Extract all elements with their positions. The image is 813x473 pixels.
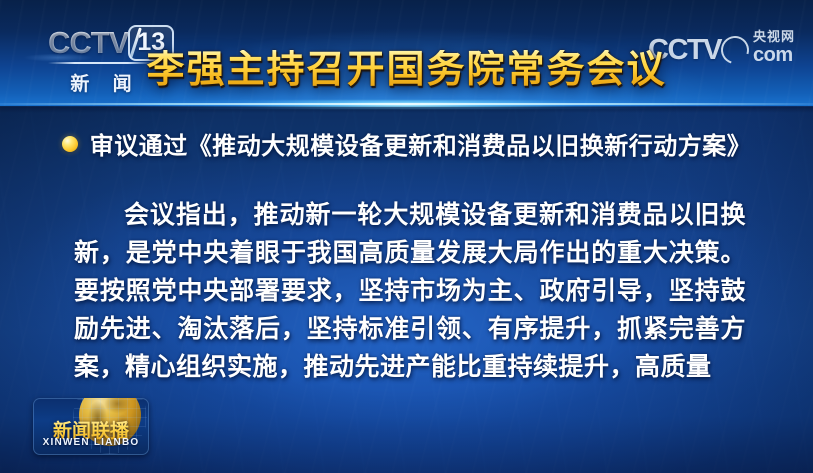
header-divider-shadow (0, 107, 813, 113)
body-paragraph: 会议指出，推动新一轮大规模设备更新和消费品以旧换新，是党中央着眼于我国高质量发展… (74, 196, 746, 386)
program-name-en: XINWEN LIANBO (33, 437, 149, 448)
header-divider-line (0, 103, 813, 105)
program-logo-reflection (10, 54, 106, 66)
xinwen-lianbo-logo: 新闻联播 XINWEN LIANBO (33, 398, 149, 455)
subtitle-text: 审议通过《推动大规模设备更新和消费品以旧换新行动方案》 (90, 126, 752, 161)
subtitle-row: 审议通过《推动大规模设备更新和消费品以旧换新行动方案》 (0, 126, 813, 161)
bullet-dot-icon (62, 136, 78, 152)
headline-title: 李强主持召开国务院常务会议 (0, 50, 813, 91)
watermark-cn-text: 央视网 (753, 30, 795, 43)
broadcast-screen: CCTV 13 新 闻 CCTV 央视网 com 李强主持召开国务院常务会议 审… (0, 0, 813, 473)
